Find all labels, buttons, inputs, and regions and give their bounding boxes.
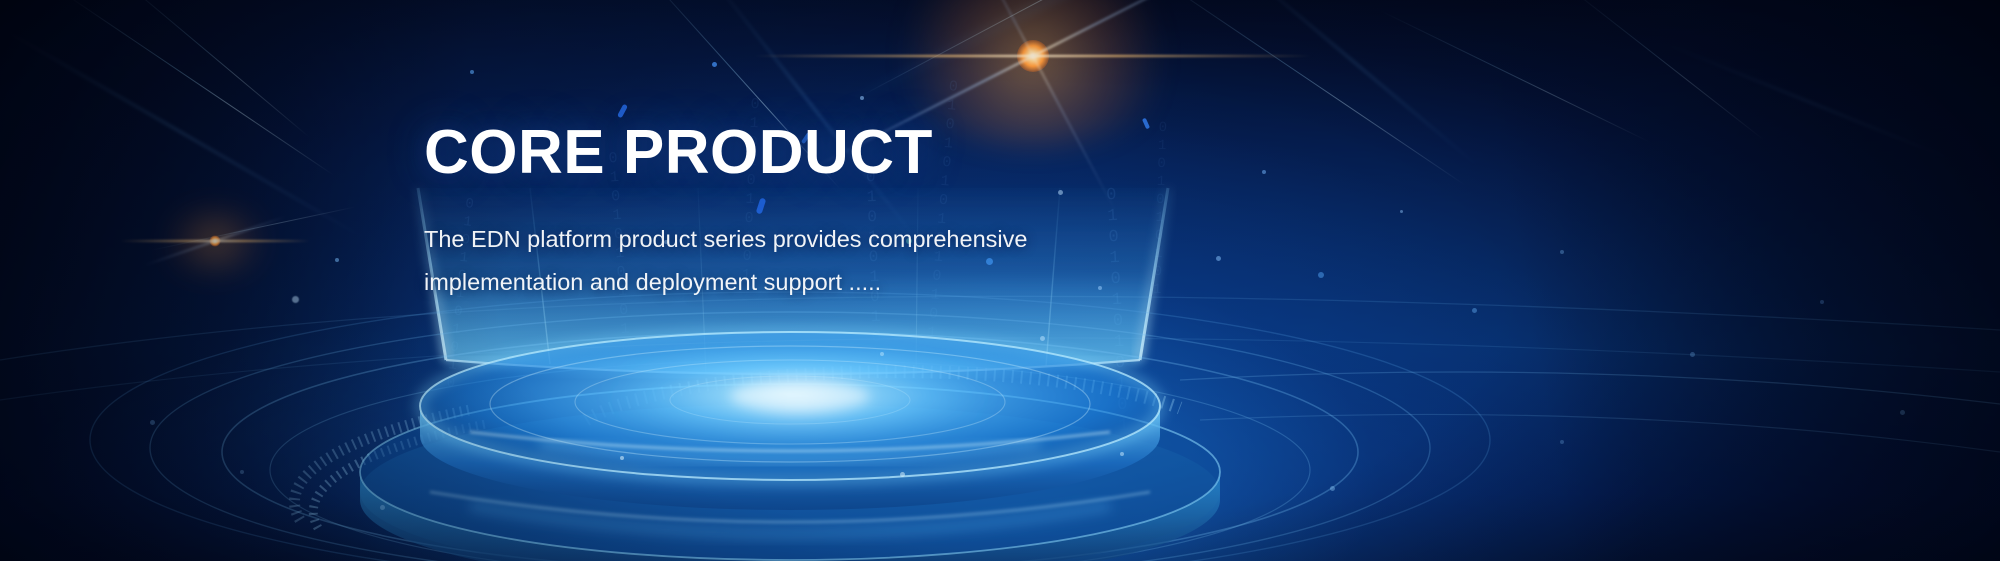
core-product-hero-banner: 01010101010 010101010101 0101010101 0101… bbox=[0, 0, 2000, 561]
hero-subtitle: The EDN platform product series provides… bbox=[424, 218, 1184, 304]
hero-subtitle-line-2: implementation and deployment support ..… bbox=[424, 261, 1184, 304]
page-title: CORE PRODUCT bbox=[424, 122, 1184, 184]
hero-copy-block: CORE PRODUCT The EDN platform product se… bbox=[424, 122, 1184, 304]
hero-subtitle-line-1: The EDN platform product series provides… bbox=[424, 218, 1184, 261]
